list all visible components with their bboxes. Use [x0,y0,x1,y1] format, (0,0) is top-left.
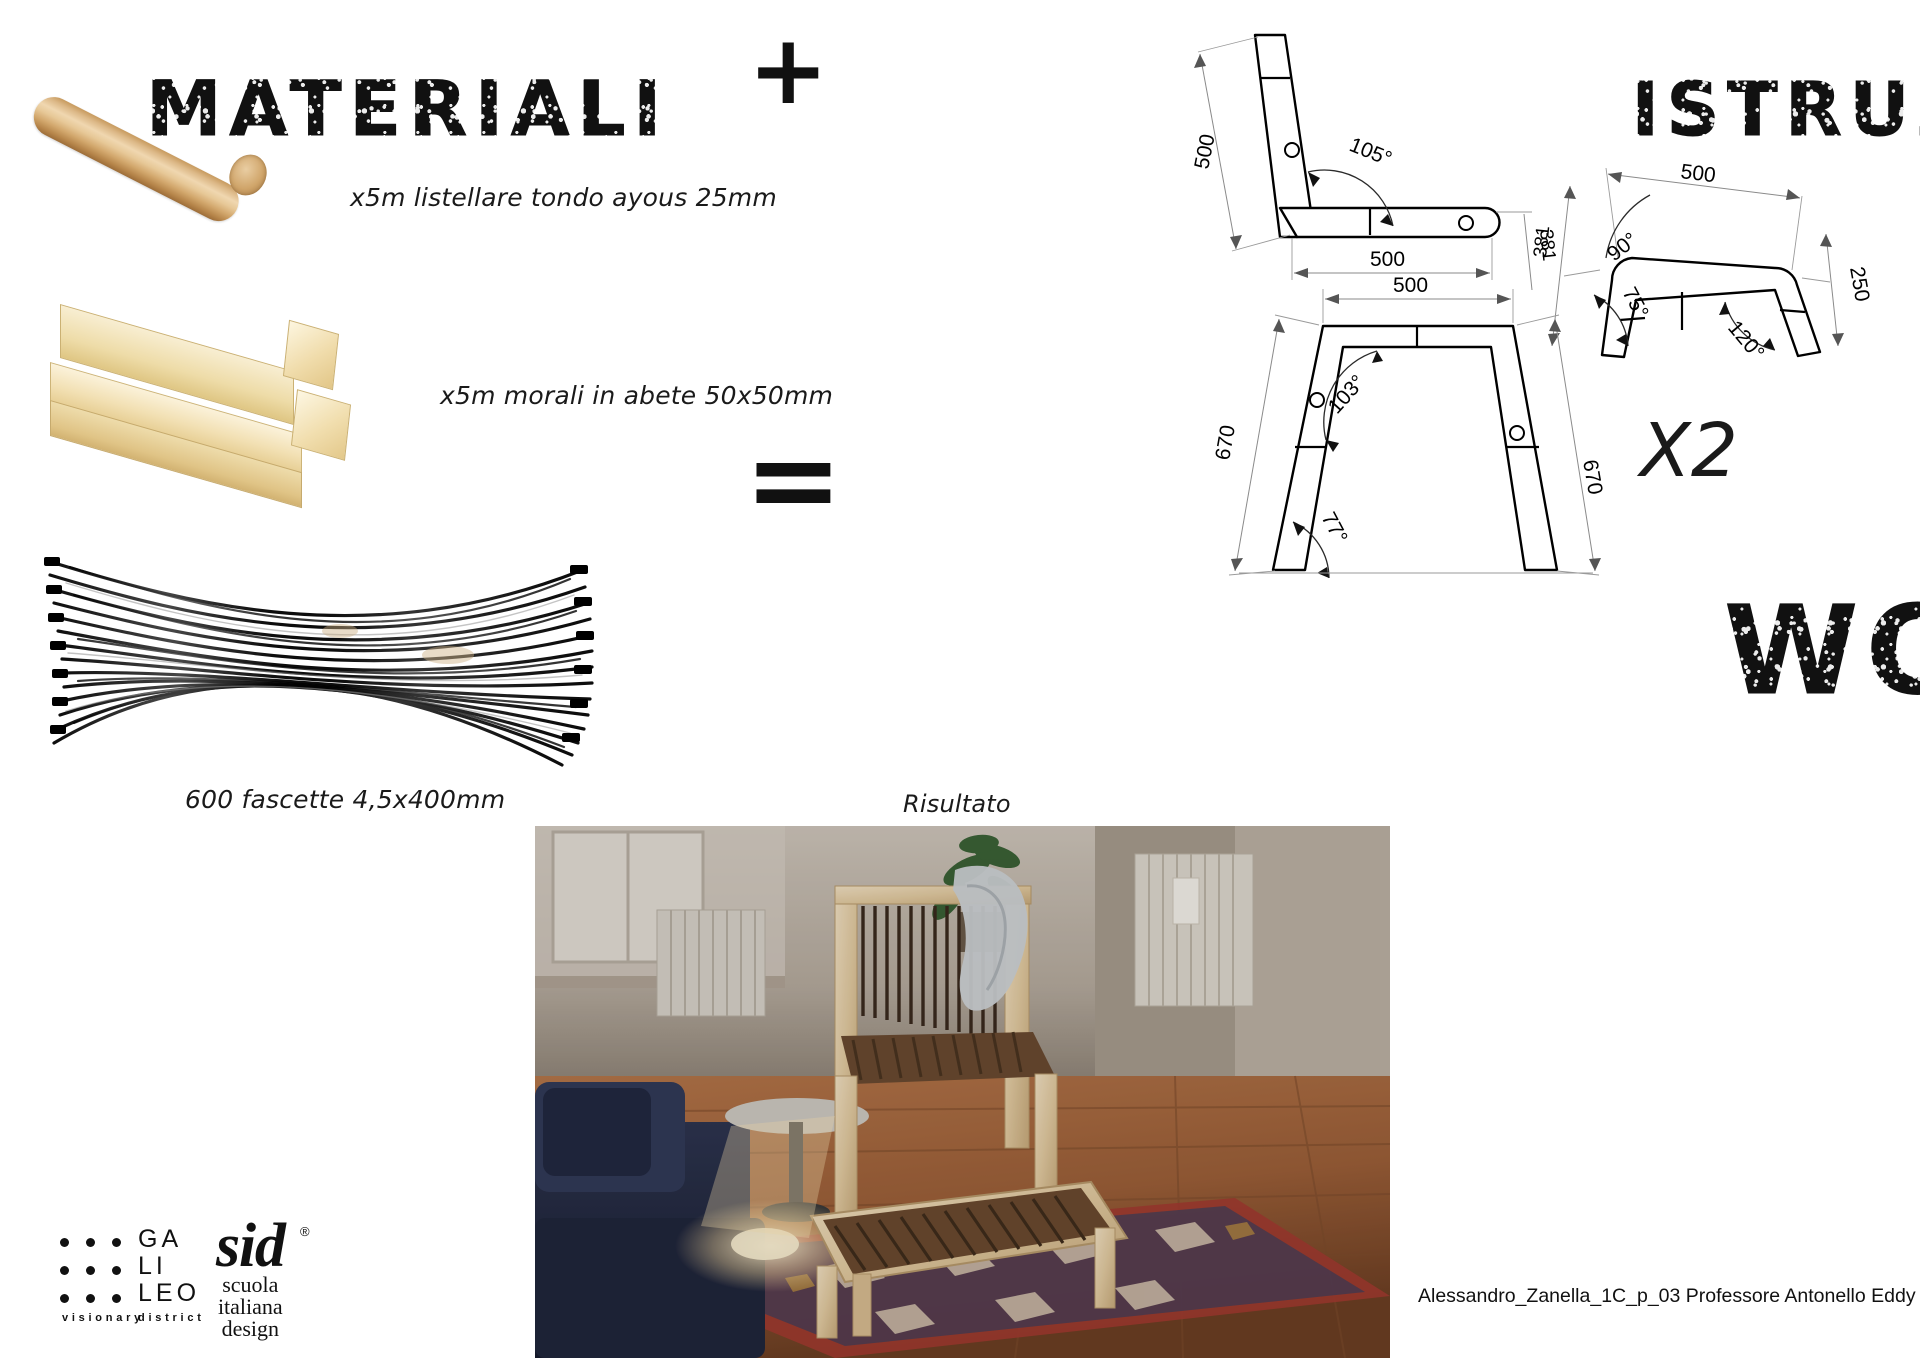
plus-symbol: + [748,22,828,118]
material-label-beams: x5m morali in abete 50x50mm [440,381,833,410]
dim-250: 250 [1845,265,1874,304]
galileo-dot-matrix [60,1228,138,1312]
material-label-dowel: x5m listellare tondo ayous 25mm [350,183,777,212]
logo-dot [86,1266,95,1275]
sid-wordmark: sid [216,1212,285,1280]
dim-500-seat: 500 [1370,248,1405,271]
quantity-note-x2: X2 [1640,408,1738,494]
sid-logo: sid ® scuola italiana design [216,1222,285,1341]
galileo-line-1: GA [138,1226,200,1253]
angle-77: 77° [1317,509,1352,548]
material-dowel-image [34,78,279,203]
logo-dot [60,1294,69,1303]
logo-tagline-district: district [138,1312,205,1324]
logo-dot [86,1238,95,1247]
logo-dot [86,1294,95,1303]
angle-120: 120° [1723,316,1769,364]
dim-500-back: 500 [1190,132,1219,171]
logo-dot [112,1266,121,1275]
galileo-wordmark: GA LI LEO [138,1226,200,1307]
material-beams-image [42,300,412,475]
footer-credit: Alessandro_Zanella_1C_p_03 Professore An… [1418,1285,1916,1308]
logo-dot [112,1294,121,1303]
galileo-line-2: LI [138,1253,200,1280]
logo-tagline-visionary: visionary [62,1312,144,1324]
logo-dot [112,1238,121,1247]
logo-dot [60,1238,69,1247]
dim-381-backrest: 381 [1530,225,1554,259]
page-title-istruzioni: ISTRUZIONI [1631,67,1920,153]
material-zipties-image [40,535,600,785]
sid-line-2: italiana [216,1296,285,1318]
equals-symbol: = [744,420,843,538]
brand-title-woodties: WOODTIES [1724,580,1920,722]
dim-500-backrest: 500 [1679,160,1717,187]
dowel-body [27,90,246,228]
dim-670-left: 670 [1211,423,1240,462]
drawing-leg-frame: 500 670 670 103° [1195,275,1615,595]
footer-logo: GA LI LEO visionary district sid ® scuol… [60,1216,280,1326]
angle-105: 105° [1346,133,1395,171]
dim-500-legs: 500 [1393,274,1428,297]
galileo-line-3: LEO [138,1280,200,1307]
result-caption: Risultato [903,790,1011,818]
registered-trademark-icon: ® [300,1224,310,1239]
material-label-zipties: 600 fascette 4,5x400mm [185,785,505,814]
sid-line-3: design [216,1318,285,1340]
result-photo [535,826,1390,1358]
logo-dot [60,1266,69,1275]
